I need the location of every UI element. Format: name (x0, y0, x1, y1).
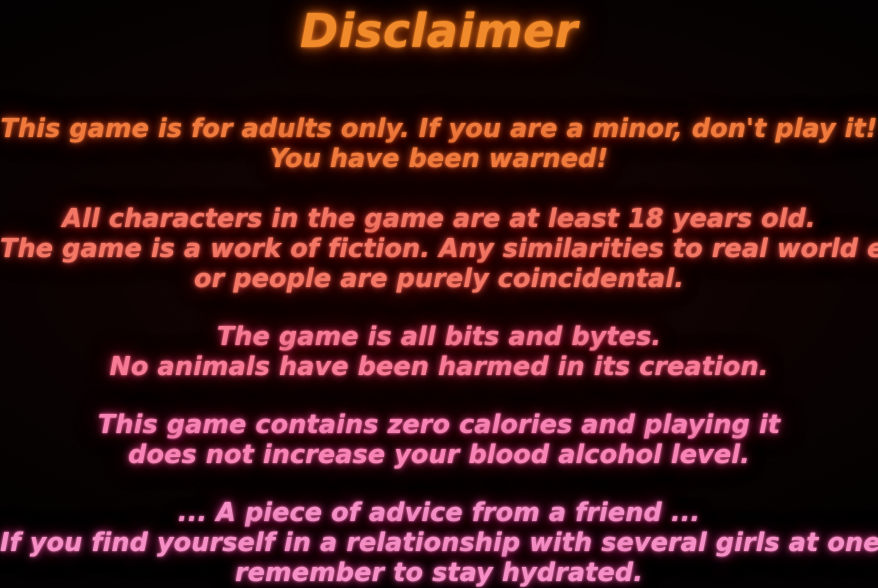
disclaimer-screen: Disclaimer This game is for adults only.… (0, 0, 878, 588)
paragraph-line: remember to stay hydrated. (0, 558, 878, 588)
paragraph-line: You have been warned! (0, 144, 878, 174)
paragraph-advice-from-a-friend: ... A piece of advice from a friend ... … (0, 498, 878, 588)
paragraph-line: or people are purely coincidental. (0, 264, 878, 294)
paragraph-zero-calories: This game contains zero calories and pla… (0, 410, 878, 470)
paragraph-no-animals-harmed: The game is all bits and bytes. No anima… (0, 322, 878, 382)
spacer (0, 174, 878, 204)
disclaimer-content: Disclaimer This game is for adults only.… (0, 0, 878, 588)
paragraph-adults-only: This game is for adults only. If you are… (0, 114, 878, 174)
paragraph-line: This game is for adults only. If you are… (0, 114, 878, 144)
paragraph-line: ... A piece of advice from a friend ... (0, 498, 878, 528)
page-title: Disclaimer (0, 2, 878, 58)
paragraph-line: This game contains zero calories and pla… (0, 410, 878, 440)
spacer (0, 294, 878, 322)
paragraph-line: The game is a work of fiction. Any simil… (0, 234, 878, 264)
paragraph-line: All characters in the game are at least … (0, 204, 878, 234)
paragraph-line: does not increase your blood alcohol lev… (0, 440, 878, 470)
paragraph-line: No animals have been harmed in its creat… (0, 352, 878, 382)
spacer (0, 382, 878, 410)
paragraph-line: If you find yourself in a relationship w… (0, 528, 878, 558)
spacer (0, 470, 878, 498)
paragraph-fiction-notice: All characters in the game are at least … (0, 204, 878, 294)
spacer-after-title (0, 58, 878, 114)
paragraph-line: The game is all bits and bytes. (0, 322, 878, 352)
